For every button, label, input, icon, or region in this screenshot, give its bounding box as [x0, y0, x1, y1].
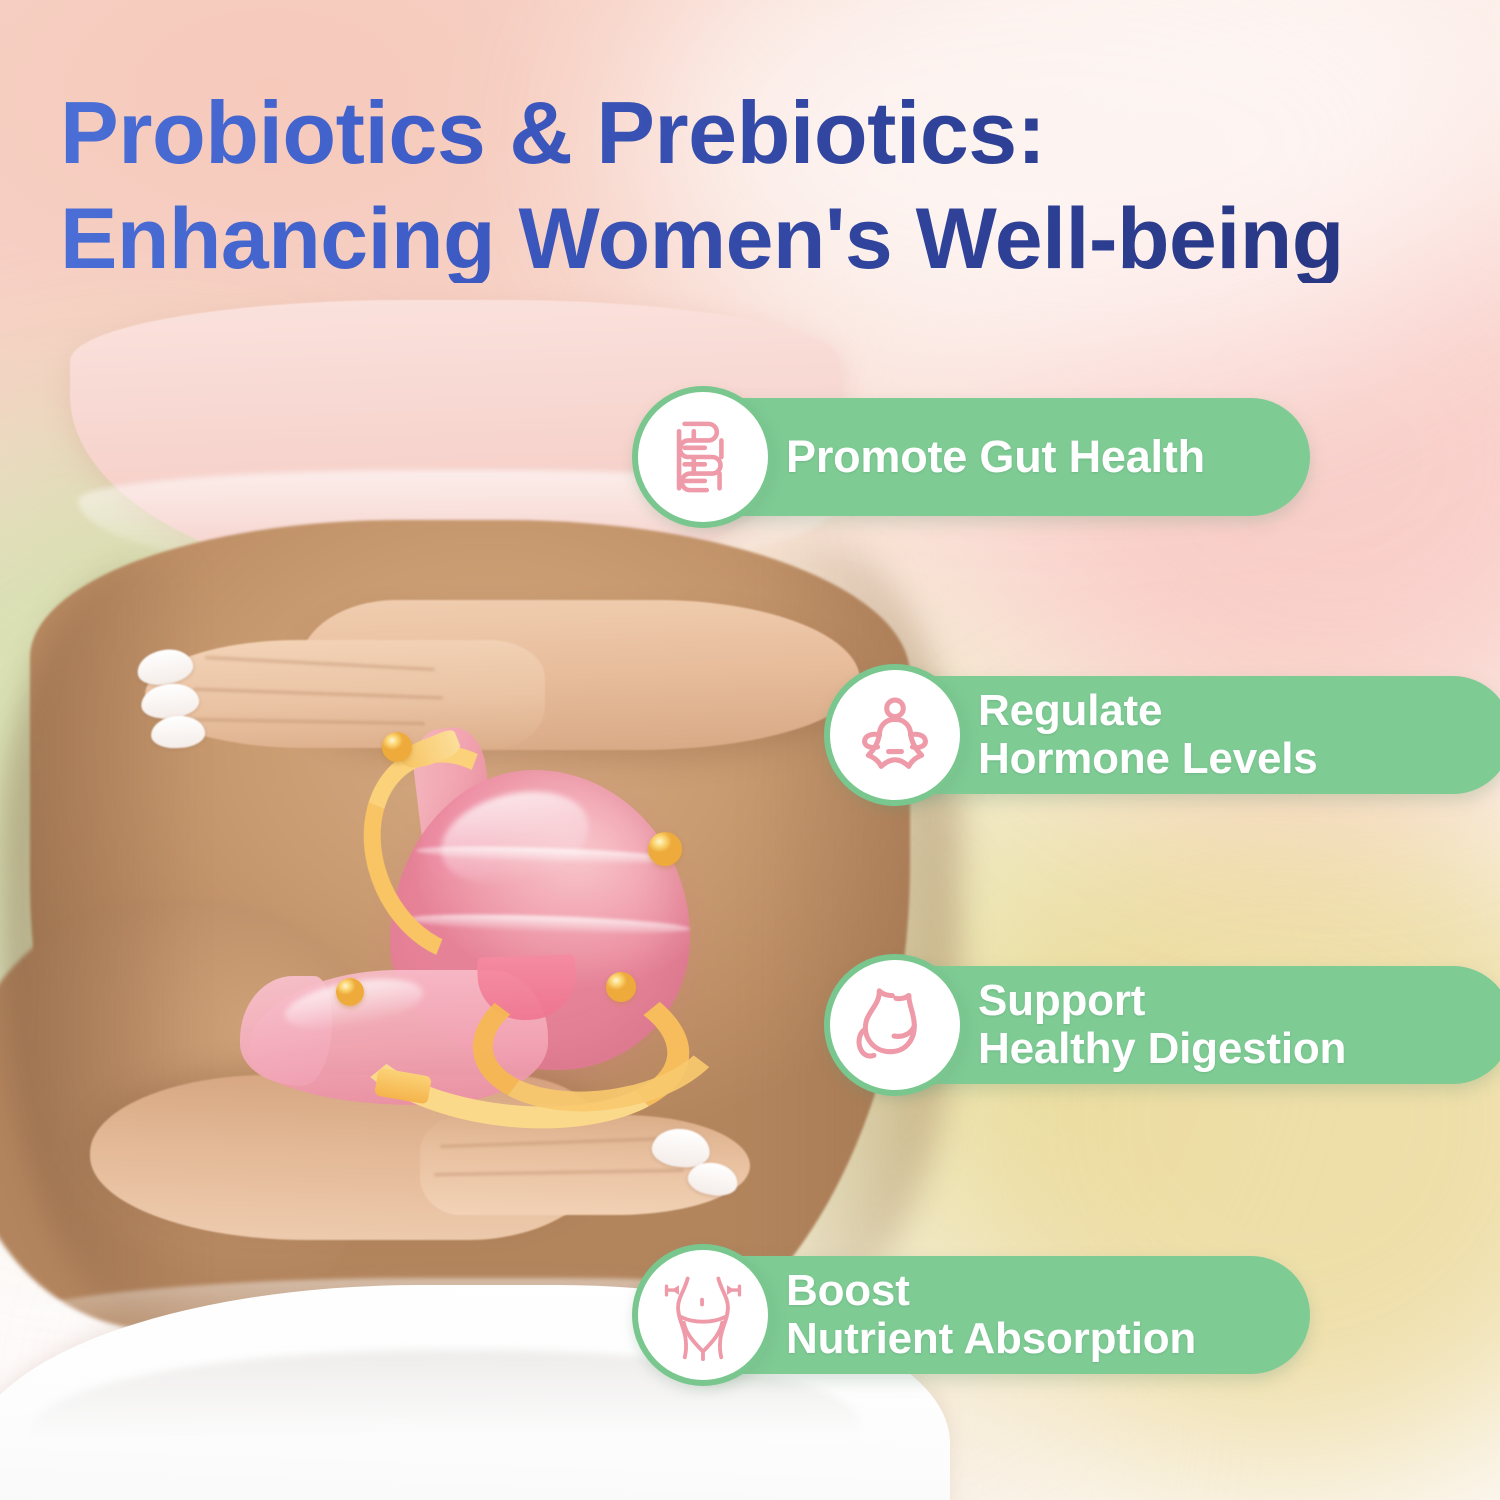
gold-bead [336, 978, 364, 1006]
badge-label: Promote Gut Health [786, 433, 1231, 482]
poster-canvas: Probiotics & Prebiotics: Enhancing Women… [0, 0, 1500, 1500]
page-title: Probiotics & Prebiotics: Enhancing Women… [60, 88, 1400, 283]
meditation-lotus-icon [824, 664, 966, 806]
badge-promote-gut-health[interactable]: Promote Gut Health [660, 398, 1310, 516]
stomach-illustration [240, 720, 710, 1130]
stomach-icon [824, 954, 966, 1096]
slim-waist-icon [632, 1244, 774, 1386]
badge-support-healthy-digestion[interactable]: Support Healthy Digestion [852, 966, 1500, 1084]
gold-bead [382, 732, 412, 762]
gold-bead [648, 832, 682, 866]
finger-crease [205, 656, 435, 671]
badge-label: Boost Nutrient Absorption [786, 1267, 1222, 1362]
badge-label: Support Healthy Digestion [978, 977, 1372, 1072]
title-line-1: Probiotics & Prebiotics: [60, 88, 1400, 178]
finger-crease [440, 1137, 670, 1148]
lower-hand-fingers [420, 1115, 750, 1215]
fingernail [139, 681, 200, 721]
title-line-2: Enhancing Women's Well-being [60, 196, 1400, 284]
badge-regulate-hormone-levels[interactable]: Regulate Hormone Levels [852, 676, 1500, 794]
badge-boost-nutrient-absorption[interactable]: Boost Nutrient Absorption [660, 1256, 1310, 1374]
badge-label: Regulate Hormone Levels [978, 687, 1344, 782]
finger-crease [434, 1169, 684, 1176]
gold-bead [606, 972, 636, 1002]
finger-crease [193, 688, 443, 700]
intestine-icon [632, 386, 774, 528]
